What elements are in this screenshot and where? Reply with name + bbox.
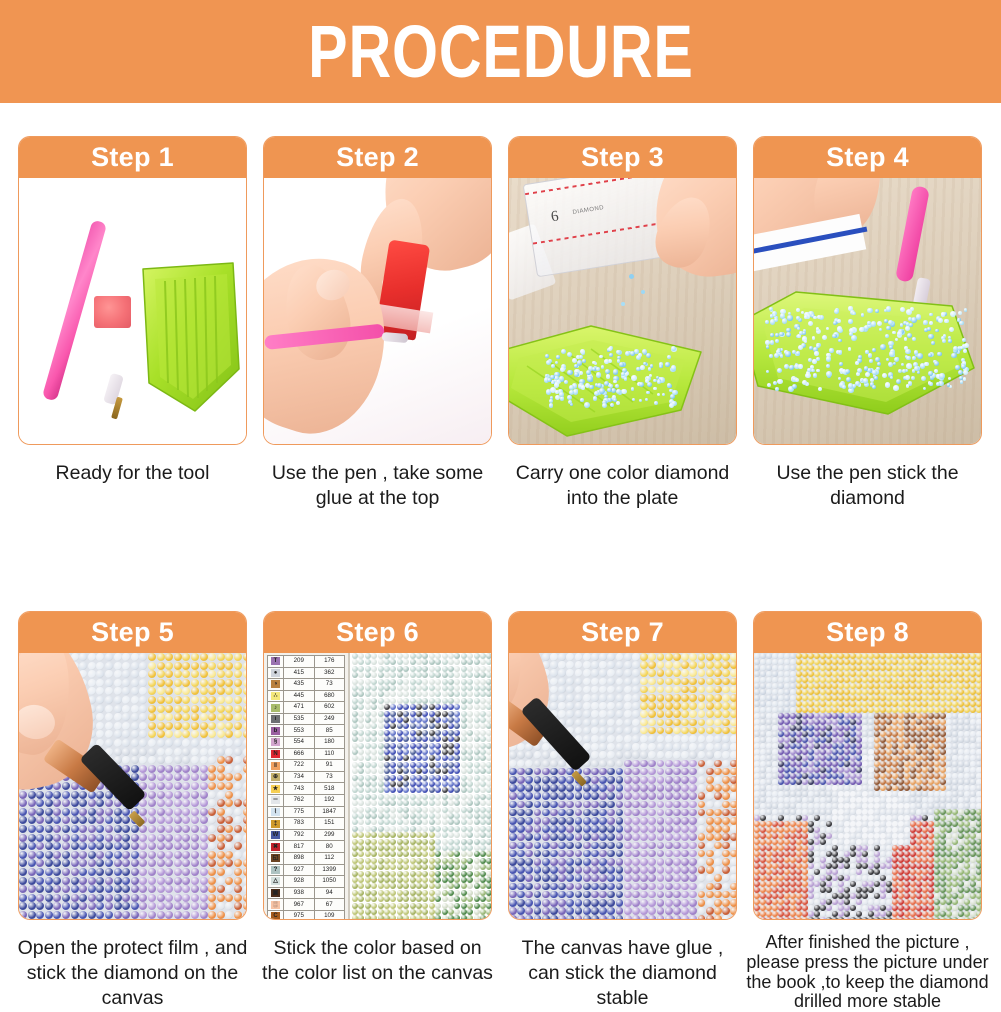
color-symbol-cell: N (268, 748, 284, 760)
color-dmc-cell: 775 (284, 806, 315, 818)
color-dmc-cell: 928 (284, 876, 315, 888)
step-image-7 (509, 653, 736, 919)
color-chart-row: ı535249 (268, 713, 345, 725)
color-count-cell: 1847 (314, 806, 345, 818)
color-symbol-cell: ‡ (268, 818, 284, 830)
step-title-6: Step 6 (264, 612, 491, 653)
color-symbol-cell: ∴ (268, 690, 284, 702)
color-symbol-cell: § (268, 737, 284, 749)
step-cell-5: Step 5 Open the protect film , and stick… (10, 611, 255, 1012)
color-dmc-cell: 783 (284, 818, 315, 830)
color-chart-row: ‖72291 (268, 760, 345, 772)
color-count-cell: 73 (314, 771, 345, 783)
step-image-3: 6 DIAMOND (509, 178, 736, 444)
steps-row-bottom: Step 5 Open the protect film , and stick… (0, 511, 1001, 1012)
color-symbol-cell: ◱ (268, 853, 284, 865)
color-chart-row: △9281050 (268, 876, 345, 888)
color-count-cell: 680 (314, 690, 345, 702)
color-symbol-cell: ⌇ (268, 806, 284, 818)
color-count-cell: 85 (314, 725, 345, 737)
color-count-cell: 67 (314, 899, 345, 911)
color-count-cell: 362 (314, 667, 345, 679)
color-count-cell: 518 (314, 783, 345, 795)
color-chart-row: W792299 (268, 829, 345, 841)
color-chart-row: N666110 (268, 748, 345, 760)
step-cell-2: Step 2 (255, 136, 500, 511)
color-chart: T209176●415362◑43573∴445680♪471602ı53524… (267, 655, 345, 919)
step-card-6[interactable]: Step 6 T209176●415362◑43573∴445680♪47160… (263, 611, 492, 920)
color-count-cell: 299 (314, 829, 345, 841)
color-symbol-cell: ⊕ (268, 771, 284, 783)
color-count-cell: 176 (314, 655, 345, 667)
color-dmc-cell: 435 (284, 679, 315, 691)
step-cell-7: Step 7 The canvas have glue , can stick … (500, 611, 745, 1012)
color-count-cell: 94 (314, 887, 345, 899)
color-dmc-cell: 734 (284, 771, 315, 783)
bag-number-label: 6 (550, 208, 560, 226)
step-title-1: Step 1 (19, 137, 246, 178)
color-dmc-cell: 975 (284, 910, 315, 918)
color-chart-row: ●415362 (268, 667, 345, 679)
color-count-cell: 192 (314, 795, 345, 807)
color-count-cell: 1399 (314, 864, 345, 876)
color-chart-row: C975109 (268, 910, 345, 918)
color-dmc-cell: 743 (284, 783, 315, 795)
step-title-8: Step 8 (754, 612, 981, 653)
step-image-8 (754, 653, 981, 919)
step-image-4 (754, 178, 981, 444)
color-symbol-cell: ● (268, 667, 284, 679)
color-count-cell: 1050 (314, 876, 345, 888)
green-tray-icon (137, 261, 242, 413)
color-count-cell: 249 (314, 713, 345, 725)
step-cell-8: Step 8 After finished the picture , plea… (745, 611, 990, 1012)
step-caption-3: Carry one color diamond into the plate (505, 461, 741, 511)
step-caption-7: The canvas have glue , can stick the dia… (505, 936, 741, 1011)
step-title-3: Step 3 (509, 137, 736, 178)
diamond-bead (629, 274, 634, 279)
color-dmc-cell: 535 (284, 713, 315, 725)
step-caption-4: Use the pen stick the diamond (750, 461, 986, 511)
color-dmc-cell: 666 (284, 748, 315, 760)
color-count-cell: 73 (314, 679, 345, 691)
color-dmc-cell: 471 (284, 702, 315, 714)
color-symbol-cell: W (268, 829, 284, 841)
step-cell-6: Step 6 T209176●415362◑43573∴445680♪47160… (255, 611, 500, 1012)
color-symbol-cell: ? (268, 864, 284, 876)
step-card-7[interactable]: Step 7 (508, 611, 737, 920)
step-card-5[interactable]: Step 5 (18, 611, 247, 920)
color-symbol-cell: ✖ (268, 841, 284, 853)
green-tray-icon (754, 282, 978, 432)
steps-grid: Step 1 (0, 103, 1001, 1012)
color-dmc-cell: 792 (284, 829, 315, 841)
step-card-1[interactable]: Step 1 (18, 136, 247, 445)
color-chart-row: ⌇7751847 (268, 806, 345, 818)
color-dmc-cell: 898 (284, 853, 315, 865)
color-count-cell: 110 (314, 748, 345, 760)
color-count-cell: 602 (314, 702, 345, 714)
color-dmc-cell: 445 (284, 690, 315, 702)
diamond-bead (641, 290, 645, 294)
step-title-7: Step 7 (509, 612, 736, 653)
color-chart-row: ?9271399 (268, 864, 345, 876)
step-image-6: T209176●415362◑43573∴445680♪471602ı53524… (264, 653, 491, 919)
color-chart-row: T209176 (268, 655, 345, 667)
color-count-cell: 91 (314, 760, 345, 772)
step-caption-5: Open the protect film , and stick the di… (15, 936, 251, 1011)
step-image-1 (19, 178, 246, 444)
glue-square-icon (94, 296, 131, 328)
color-chart-row: ∴445680 (268, 690, 345, 702)
step-card-2[interactable]: Step 2 (263, 136, 492, 445)
color-chart-row: ✖81780 (268, 841, 345, 853)
color-chart-table: T209176●415362◑43573∴445680♪471602ı53524… (264, 653, 350, 919)
step-card-4[interactable]: Step 4 (753, 136, 982, 445)
step-caption-1: Ready for the tool (15, 461, 251, 486)
color-dmc-cell: 938 (284, 887, 315, 899)
color-symbol-cell: △ (268, 876, 284, 888)
step-image-5 (19, 653, 246, 919)
color-dmc-cell: 762 (284, 795, 315, 807)
step-card-8[interactable]: Step 8 (753, 611, 982, 920)
color-symbol-cell: ı (268, 713, 284, 725)
color-chart-row: ♪471602 (268, 702, 345, 714)
color-dmc-cell: 927 (284, 864, 315, 876)
color-symbol-cell: ♪ (268, 702, 284, 714)
color-chart-row: ‡783151 (268, 818, 345, 830)
step-caption-2: Use the pen , take some glue at the top (260, 461, 496, 511)
color-symbol-cell: ═ (268, 795, 284, 807)
color-symbol-cell: b (268, 725, 284, 737)
color-symbol-cell: ░ (268, 899, 284, 911)
color-chart-row: ⊕73473 (268, 771, 345, 783)
color-symbol-cell: C (268, 910, 284, 918)
diamond-bead (621, 302, 625, 306)
color-dmc-cell: 722 (284, 760, 315, 772)
step-caption-8: After finished the picture , please pres… (744, 933, 992, 1012)
color-dmc-cell: 553 (284, 725, 315, 737)
step-cell-4: Step 4 (745, 136, 990, 511)
page-title: PROCEDURE (308, 15, 693, 89)
color-chart-row: b55385 (268, 725, 345, 737)
color-dmc-cell: 554 (284, 737, 315, 749)
step-image-2 (264, 178, 491, 444)
step-cell-3: Step 3 6 DIAMOND (500, 136, 745, 511)
color-chart-row: ▣93894 (268, 887, 345, 899)
step-caption-6: Stick the color based on the color list … (260, 936, 496, 986)
step-title-4: Step 4 (754, 137, 981, 178)
color-symbol-cell: ‖ (268, 760, 284, 772)
color-chart-row: ░96767 (268, 899, 345, 911)
page-banner: PROCEDURE (0, 0, 1001, 103)
color-symbol-cell: ◑ (268, 679, 284, 691)
color-count-cell: 109 (314, 910, 345, 918)
step-title-5: Step 5 (19, 612, 246, 653)
color-count-cell: 151 (314, 818, 345, 830)
color-dmc-cell: 817 (284, 841, 315, 853)
color-chart-row: ◱898112 (268, 853, 345, 865)
color-dmc-cell: 415 (284, 667, 315, 679)
finished-painting-icon (754, 653, 981, 919)
color-count-cell: 180 (314, 737, 345, 749)
color-dmc-cell: 209 (284, 655, 315, 667)
color-symbol-cell: T (268, 655, 284, 667)
color-chart-row: ◑43573 (268, 679, 345, 691)
bag-text-icon: DIAMOND (572, 205, 604, 216)
color-count-cell: 80 (314, 841, 345, 853)
steps-row-top: Step 1 (0, 136, 1001, 511)
step-cell-1: Step 1 (10, 136, 255, 511)
color-dmc-cell: 967 (284, 899, 315, 911)
color-chart-row: ★743518 (268, 783, 345, 795)
step-title-2: Step 2 (264, 137, 491, 178)
step-card-3[interactable]: Step 3 6 DIAMOND (508, 136, 737, 445)
diamond-canvas-icon (352, 653, 491, 919)
color-chart-row: §554180 (268, 737, 345, 749)
color-symbol-cell: ▣ (268, 887, 284, 899)
color-symbol-cell: ★ (268, 783, 284, 795)
color-chart-row: ═762192 (268, 795, 345, 807)
color-count-cell: 112 (314, 853, 345, 865)
